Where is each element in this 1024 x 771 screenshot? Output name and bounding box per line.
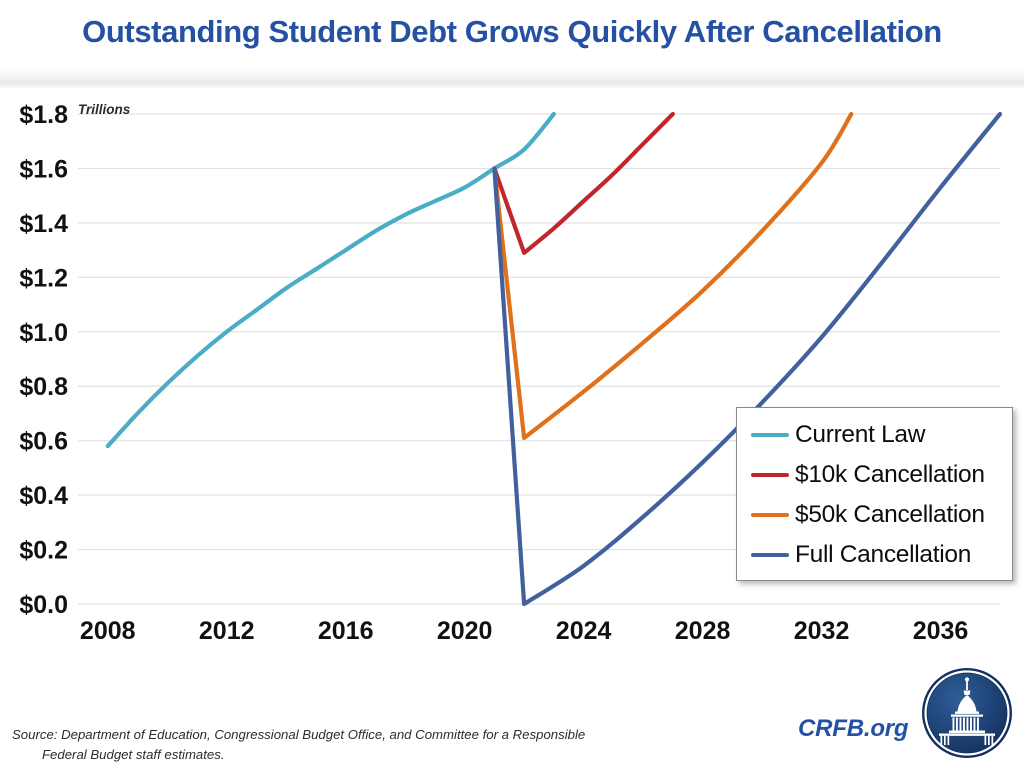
legend-swatch-full-cancellation <box>751 553 789 557</box>
legend-item-current-law[interactable]: Current Law <box>737 415 1012 455</box>
legend-label-10k-cancellation: $10k Cancellation <box>795 461 985 489</box>
y-axis-tick-label: $1.0 <box>19 319 68 347</box>
y-axis-tick-label: $1.6 <box>19 155 68 183</box>
x-axis-tick-label: 2008 <box>80 617 136 645</box>
series-line-current-law <box>108 114 554 446</box>
y-axis-tick-label: $0.2 <box>19 537 68 565</box>
y-axis-tick-label: $0.8 <box>19 373 68 401</box>
y-axis-tick-label: $0.6 <box>19 428 68 456</box>
legend-label-50k-cancellation: $50k Cancellation <box>795 501 985 529</box>
y-axis-tick-label: $0.4 <box>19 482 68 510</box>
source-note: Source: Department of Education, Congres… <box>12 725 712 765</box>
y-axis-tick-label: $1.2 <box>19 264 68 292</box>
x-axis-tick-label: 2028 <box>675 617 731 645</box>
legend-swatch-current-law <box>751 433 789 437</box>
legend-label-full-cancellation: Full Cancellation <box>795 541 971 569</box>
title-band: Outstanding Student Debt Grows Quickly A… <box>0 0 1024 88</box>
legend-swatch-50k-cancellation <box>751 513 789 517</box>
source-note-line2: Federal Budget staff estimates. <box>12 745 712 765</box>
y-axis-tick-label: $0.0 <box>19 591 68 619</box>
units-annotation: Trillions <box>78 102 131 117</box>
x-axis-tick-label: 2016 <box>318 617 374 645</box>
brand-label: CRFB.org <box>798 715 908 743</box>
x-axis-tick-label: 2012 <box>199 617 255 645</box>
series-line-10k-cancellation <box>494 114 672 253</box>
legend-item-10k-cancellation[interactable]: $10k Cancellation <box>737 455 1012 495</box>
x-axis-tick-label: 2036 <box>913 617 969 645</box>
y-axis-tick-label: $1.4 <box>19 210 68 238</box>
source-note-line1: Source: Department of Education, Congres… <box>12 727 585 742</box>
x-axis-tick-label: 2020 <box>437 617 493 645</box>
chart-page: Outstanding Student Debt Grows Quickly A… <box>0 0 1024 771</box>
legend-item-50k-cancellation[interactable]: $50k Cancellation <box>737 495 1012 535</box>
x-axis-tick-label: 2024 <box>556 617 612 645</box>
x-axis-tick-label: 2032 <box>794 617 850 645</box>
capitol-dome-icon <box>921 667 1013 759</box>
y-axis-tick-label: $1.8 <box>19 101 68 129</box>
series-line-50k-cancellation <box>494 114 851 438</box>
page-title: Outstanding Student Debt Grows Quickly A… <box>0 14 1024 50</box>
y-axis-labels-group: $1.8$1.6$1.4$1.2$1.0$0.8$0.6$0.4$0.2$0.0 <box>19 101 68 619</box>
legend-label-current-law: Current Law <box>795 421 925 449</box>
x-axis-labels-group: 20082012201620202024202820322036 <box>80 617 968 645</box>
legend-item-full-cancellation[interactable]: Full Cancellation <box>737 535 1012 575</box>
legend-swatch-10k-cancellation <box>751 473 789 477</box>
chart-legend: Current Law $10k Cancellation $50k Cance… <box>736 407 1013 581</box>
